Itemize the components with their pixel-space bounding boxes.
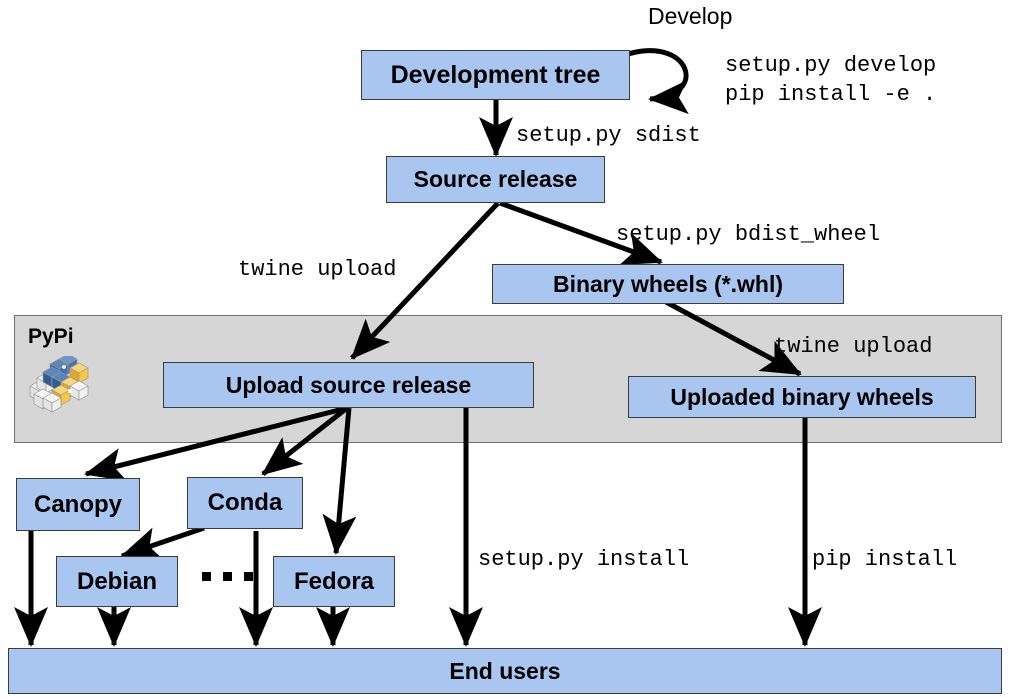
- label-pip-install: pip install: [812, 545, 957, 574]
- node-fedora[interactable]: Fedora: [273, 556, 395, 607]
- diagram-canvas: PyPi: [0, 0, 1009, 698]
- label-twine-upload-wheels: twine upload: [774, 332, 932, 361]
- node-binary-wheels[interactable]: Binary wheels (*.whl): [492, 264, 844, 304]
- node-end-users[interactable]: End users: [8, 648, 1002, 694]
- arrow-develop-loop: [628, 51, 686, 99]
- ellipsis-more-distros: [202, 572, 253, 581]
- label-develop: Develop: [648, 3, 732, 30]
- pypi-region-label: PyPi: [28, 325, 74, 349]
- node-development-tree[interactable]: Development tree: [361, 50, 630, 100]
- node-debian[interactable]: Debian: [56, 556, 178, 607]
- node-canopy[interactable]: Canopy: [16, 478, 140, 531]
- arrow-conda-to-debian: [122, 528, 204, 556]
- label-setup-sdist: setup.py sdist: [516, 121, 701, 150]
- label-setup-install: setup.py install: [478, 545, 689, 574]
- label-twine-upload-source: twine upload: [238, 255, 396, 284]
- python-cubes-logo: [28, 356, 90, 414]
- label-setup-bdist-wheel: setup.py bdist_wheel: [616, 220, 880, 249]
- node-source-release[interactable]: Source release: [386, 156, 605, 203]
- label-develop-commands: setup.py develop pip install -e .: [725, 51, 936, 109]
- node-uploaded-binary-wheels[interactable]: Uploaded binary wheels: [628, 376, 976, 418]
- node-conda[interactable]: Conda: [187, 477, 303, 529]
- node-upload-source-release[interactable]: Upload source release: [163, 362, 534, 408]
